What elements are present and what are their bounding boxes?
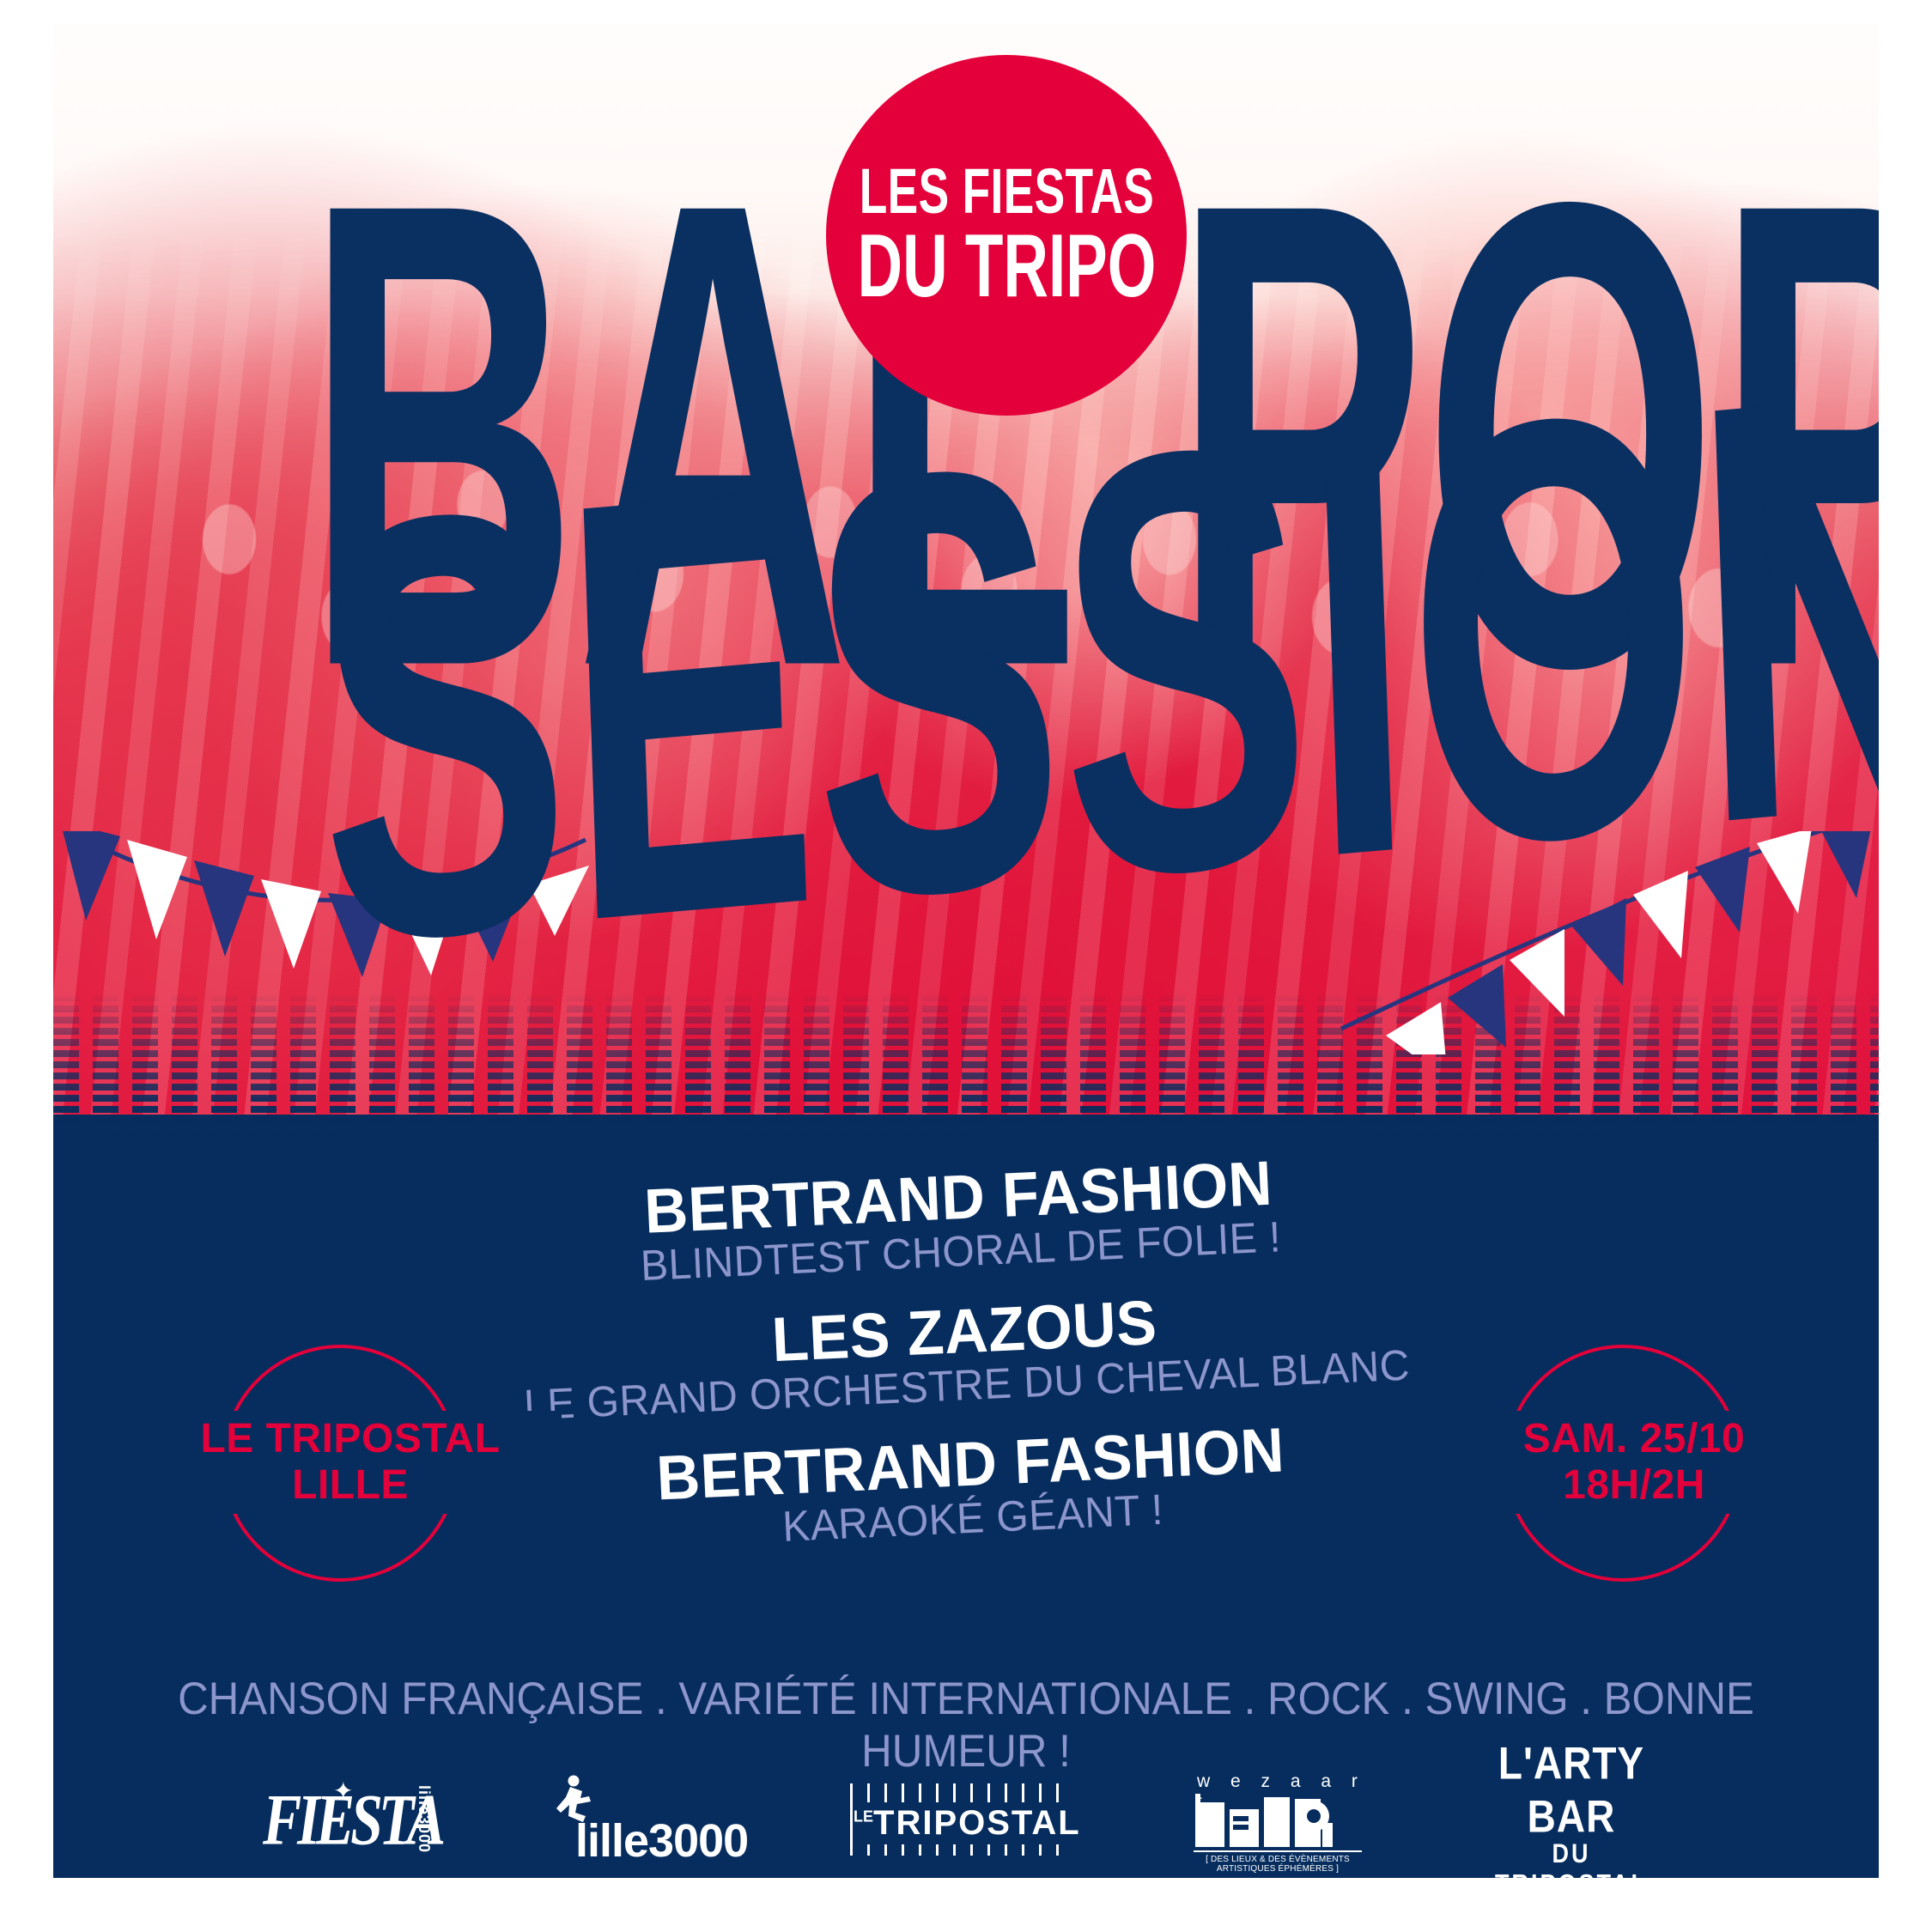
tripostal-main: TRIPOSTAL bbox=[873, 1804, 1081, 1842]
date-line-2: 18H/2H bbox=[1437, 1462, 1832, 1509]
bunting-flags-left bbox=[60, 831, 589, 977]
venue-info: LE TRIPOSTAL LILLE bbox=[139, 1411, 562, 1514]
logo-wezaart-dmr: w e z a a r t [ DES LIEUX & DES ÉVÈNEMEN… bbox=[1194, 1771, 1365, 1868]
logo-le-tripostal: LETRIPOSTAL bbox=[850, 1783, 1073, 1856]
logo-lille3000: lille3000 bbox=[550, 1777, 730, 1862]
bunting-flags-right bbox=[1386, 831, 1874, 1054]
badge-line-2: DU TRIPO bbox=[857, 226, 1156, 308]
bunting-garland bbox=[53, 831, 1879, 1054]
dmr-mark-icon bbox=[1194, 1794, 1357, 1847]
sponsor-logo-row: ✦ FIESTA lille3000 lille3000 LETRIPOSTAL… bbox=[53, 1771, 1879, 1868]
tripostal-wordmark: LETRIPOSTAL bbox=[854, 1802, 1077, 1844]
logo-arty-bar: L'ARTY BAR DU TRIPOSTAL bbox=[1485, 1778, 1657, 1861]
badge-line-1: LES FIESTAS bbox=[859, 162, 1153, 221]
wezaart-tagline: [ DES LIEUX & DES ÉVÈNEMENTS ARTISTIQUES… bbox=[1194, 1850, 1362, 1874]
date-info: SAM. 25/10 18H/2H bbox=[1423, 1411, 1845, 1514]
logo-fiesta-lille3000: ✦ FIESTA lille3000 bbox=[275, 1782, 429, 1857]
poster-canvas: BAL POP SESSION LES FIESTAS DU TRIPO BER… bbox=[53, 24, 1879, 1878]
venue-line-1: LE TRIPOSTAL bbox=[153, 1416, 548, 1462]
venue-line-2: LILLE bbox=[153, 1462, 548, 1509]
date-line-1: SAM. 25/10 bbox=[1437, 1416, 1832, 1462]
lille3000-wordmark: lille3000 bbox=[575, 1814, 748, 1868]
arty-bar-line-2: DU TRIPOSTAL bbox=[1485, 1838, 1657, 1878]
fiesta-sub-wordmark: lille3000 bbox=[415, 1785, 433, 1853]
fiestas-du-tripo-badge: LES FIESTAS DU TRIPO bbox=[826, 55, 1187, 416]
tripostal-prefix: LE bbox=[854, 1808, 873, 1826]
arty-bar-line-1: L'ARTY BAR bbox=[1485, 1736, 1657, 1843]
arty-bar-wordmark: L'ARTY BAR DU TRIPOSTAL bbox=[1485, 1743, 1657, 1878]
